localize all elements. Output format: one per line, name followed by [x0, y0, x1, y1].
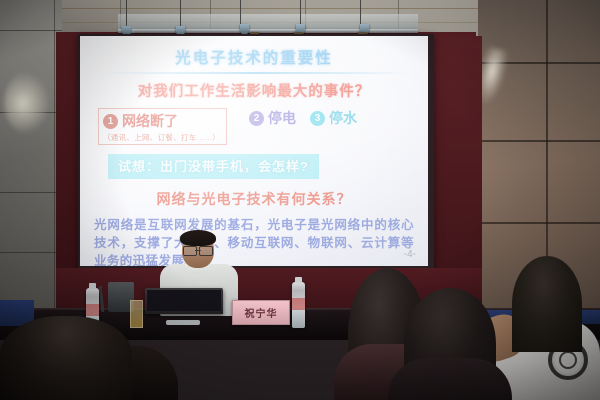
- number-circle-1-icon: 1: [103, 114, 118, 129]
- audience-head-foreground-left: [0, 316, 132, 400]
- presenter-remote: [166, 320, 200, 325]
- number-circle-2-icon: 2: [249, 111, 264, 126]
- slide-highlight-band: 试想：出门没带手机，会怎样?: [108, 154, 319, 179]
- slide-title: 光电子技术的重要性: [92, 46, 416, 68]
- slide-item-list: 1 网络断了 （通讯、上网、订餐、打车……） 2 停电 3 停水: [92, 108, 416, 145]
- slide-highlight-text: 试想：出门没带手机，会怎样?: [118, 159, 309, 174]
- nameplate: 祝宁华: [232, 300, 290, 325]
- slide-question-1: 对我们工作生活影响最大的事件？: [92, 80, 416, 101]
- lamp-wire: [360, 0, 361, 26]
- lamp-wire: [240, 0, 241, 26]
- water-bottle-right: [292, 282, 305, 328]
- slide-item-2: 2 停电: [249, 108, 296, 128]
- light-rail: [118, 29, 418, 33]
- laptop-computer: [145, 288, 223, 314]
- laptop-screen: [147, 290, 221, 311]
- lecture-hall-scene: 光电子技术的重要性 对我们工作生活影响最大的事件？ 1 网络断了 （通讯、上网、…: [0, 0, 600, 400]
- nameplate-text: 祝宁华: [245, 305, 278, 320]
- slide-item-3: 3 停水: [310, 108, 357, 128]
- slide-item-3-label: 停水: [329, 108, 357, 128]
- title-divider: [100, 72, 408, 74]
- slide-page-number: -4-: [404, 249, 416, 260]
- lamp-wire: [300, 0, 301, 26]
- wall-left-panels: [0, 0, 62, 330]
- speaker-hair: [180, 230, 216, 246]
- slide-question-2: 网络与光电子技术有何关系？: [92, 189, 416, 209]
- wall-glare: [4, 72, 50, 134]
- eyeglasses-icon: [183, 246, 213, 254]
- wall-behind-screen-right: [430, 36, 482, 298]
- slide-item-1-label: 网络断了: [122, 111, 178, 131]
- audience-head-right: [512, 256, 582, 352]
- slide-paragraph: 光网络是互联网发展的基石，光电子是光网络中的核心技术，支撑了大数据、移动互联网、…: [92, 216, 416, 266]
- number-circle-3-icon: 3: [310, 111, 325, 126]
- slide-item-2-label: 停电: [268, 108, 296, 128]
- projection-screen: 光电子技术的重要性 对我们工作生活影响最大的事件？ 1 网络断了 （通讯、上网、…: [80, 36, 428, 266]
- audience-head-center: [404, 288, 496, 400]
- slide-item-1-note: （通讯、上网、订餐、打车……）: [103, 132, 220, 143]
- presentation-slide: 光电子技术的重要性 对我们工作生活影响最大的事件？ 1 网络断了 （通讯、上网、…: [80, 36, 428, 266]
- light-rail-glass: [118, 14, 418, 30]
- projection-screen-frame: 光电子技术的重要性 对我们工作生活影响最大的事件？ 1 网络断了 （通讯、上网、…: [78, 34, 434, 272]
- tea-glass: [130, 300, 143, 328]
- slide-item-1: 1 网络断了 （通讯、上网、订餐、打车……）: [98, 108, 227, 145]
